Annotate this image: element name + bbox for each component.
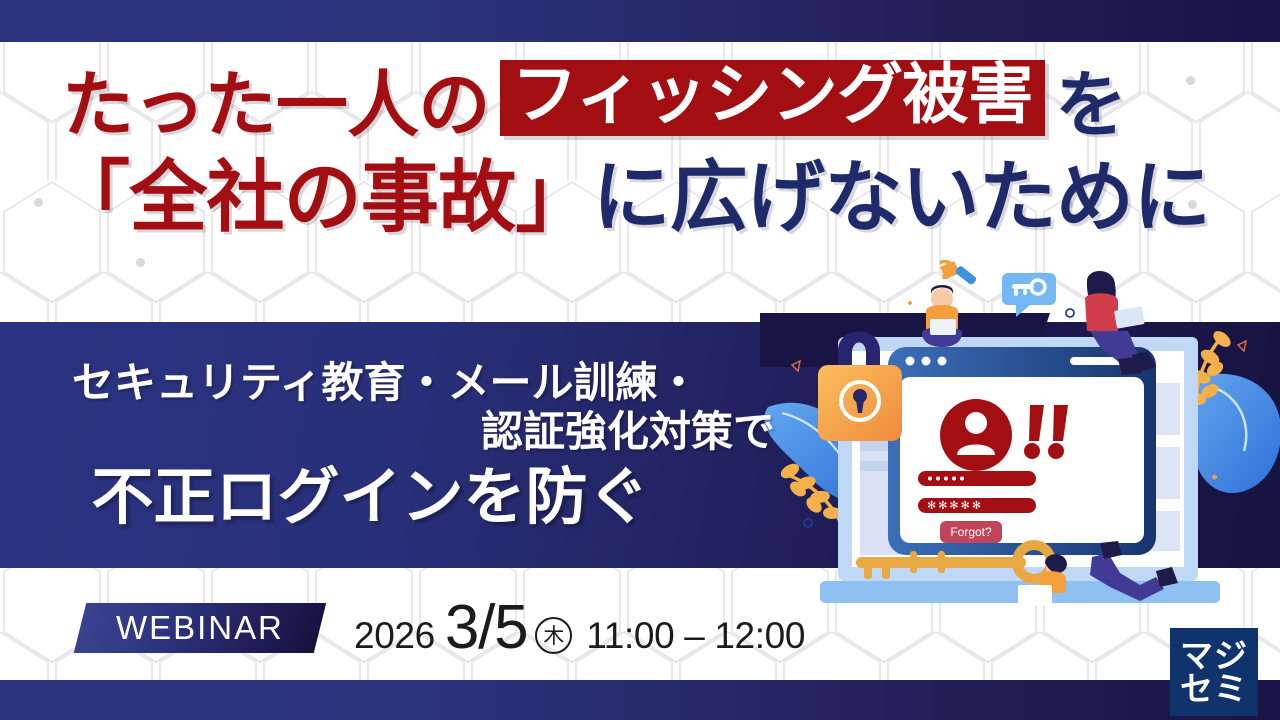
svg-text:✻✻✻✻✻: ✻✻✻✻✻ xyxy=(927,499,983,512)
webinar-badge: WEBINAR xyxy=(74,603,326,653)
avatar-error-icon xyxy=(940,399,1012,471)
headline-highlight: フィッシング被害 xyxy=(500,60,1045,136)
window-dot xyxy=(922,357,931,366)
window-dot xyxy=(906,357,915,366)
login-browser-window xyxy=(888,347,1156,555)
headline-line-1: たった一人の フィッシング被害 を xyxy=(0,50,1250,146)
headline-open-bracket: 「 xyxy=(52,135,129,247)
subtitle-line-2: 認証強化対策で xyxy=(0,408,775,457)
footer-row: WEBINAR 2026 3/5 木 11:00 – 12:00 xyxy=(0,588,1280,668)
webinar-badge-label: WEBINAR xyxy=(116,609,284,647)
logo-line-1: マジ xyxy=(1180,639,1248,672)
key-speech-bubble-icon xyxy=(1002,273,1056,317)
security-illustration: ✻✻✻✻✻ Forgot? xyxy=(760,255,1280,615)
event-dateline: 2026 3/5 木 11:00 – 12:00 xyxy=(354,597,805,659)
hex-node-dot xyxy=(136,258,145,267)
headline-red-phrase: 全社の事故 xyxy=(129,135,515,247)
bottom-accent-bar xyxy=(0,680,1280,720)
window-dot xyxy=(938,357,947,366)
banner-root: たった一人の フィッシング被害 を 「 全社の事故 」 に広げないために xyxy=(0,0,1280,720)
event-year: 2026 xyxy=(354,615,435,657)
subtitle-block: セキュリティ教育・メール訓練・ 認証強化対策で 不正ログインを防ぐ xyxy=(0,322,795,568)
subtitle-line-1: セキュリティ教育・メール訓練・ xyxy=(0,359,775,408)
headline-line-2: 「 全社の事故 」 に広げないために xyxy=(0,142,1250,240)
event-time: 11:00 – 12:00 xyxy=(586,615,805,657)
svg-text:?: ? xyxy=(938,256,953,286)
forgot-password-button[interactable]: Forgot? xyxy=(940,521,1002,543)
event-month-day: 3/5 xyxy=(445,597,527,659)
headline-close-bracket: 」 xyxy=(515,135,592,247)
headline-block: たった一人の フィッシング被害 を 「 全社の事故 」 に広げないために xyxy=(0,50,1250,240)
subtitle-line-3: 不正ログインを防ぐ xyxy=(0,463,775,531)
forgot-label: Forgot? xyxy=(950,525,992,539)
logo-line-2: セミ xyxy=(1180,672,1248,705)
event-day-of-week: 木 xyxy=(535,617,572,654)
password-field[interactable]: ✻✻✻✻✻ xyxy=(918,498,1036,513)
top-accent-bar xyxy=(0,0,1280,42)
illustration-svg: ✻✻✻✻✻ Forgot? xyxy=(760,255,1280,615)
headline-navy-phrase: に広げないために xyxy=(593,135,1211,247)
username-field[interactable] xyxy=(918,471,1036,486)
majisemi-logo[interactable]: マジ セミ xyxy=(1170,628,1258,716)
